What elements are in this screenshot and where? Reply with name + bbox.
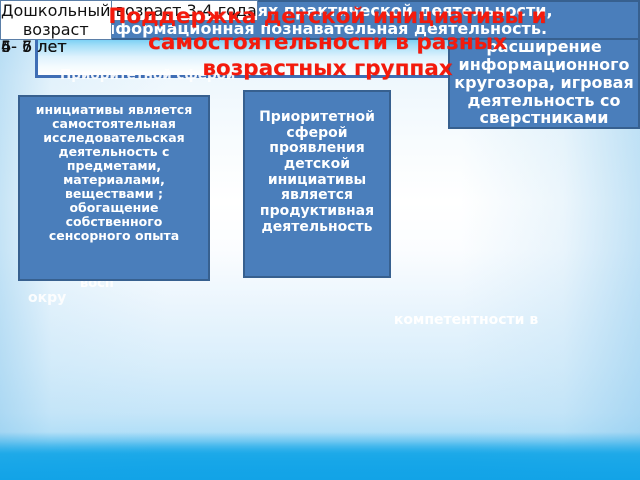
ghost-text-top: Приоритетной сферой <box>60 68 235 82</box>
card-label-line-3: 6- 7 лет <box>1 37 67 56</box>
background-bottom-glow <box>0 432 640 480</box>
card-body-text: инициативы является самостоятельная иссл… <box>20 103 208 243</box>
card-label-age-6-7: Дошкольный возраст 6- 7 лет <box>0 0 112 40</box>
slide-canvas: Приоритетной сферой восп окру инициативы… <box>0 0 640 480</box>
card-body-age-3-4: Приоритетной сферой проявления детской и… <box>243 90 391 278</box>
card-body-early-age: инициативы является самостоятельная иссл… <box>18 95 210 281</box>
card-label-line-1: Дошкольный <box>1 1 111 20</box>
ghost-text-okru: окру <box>28 291 66 306</box>
card-body-hidden-prefix-age-6-7: компетентности в <box>320 312 612 328</box>
card-body-text: Приоритетной сферой проявления детской и… <box>245 110 389 235</box>
